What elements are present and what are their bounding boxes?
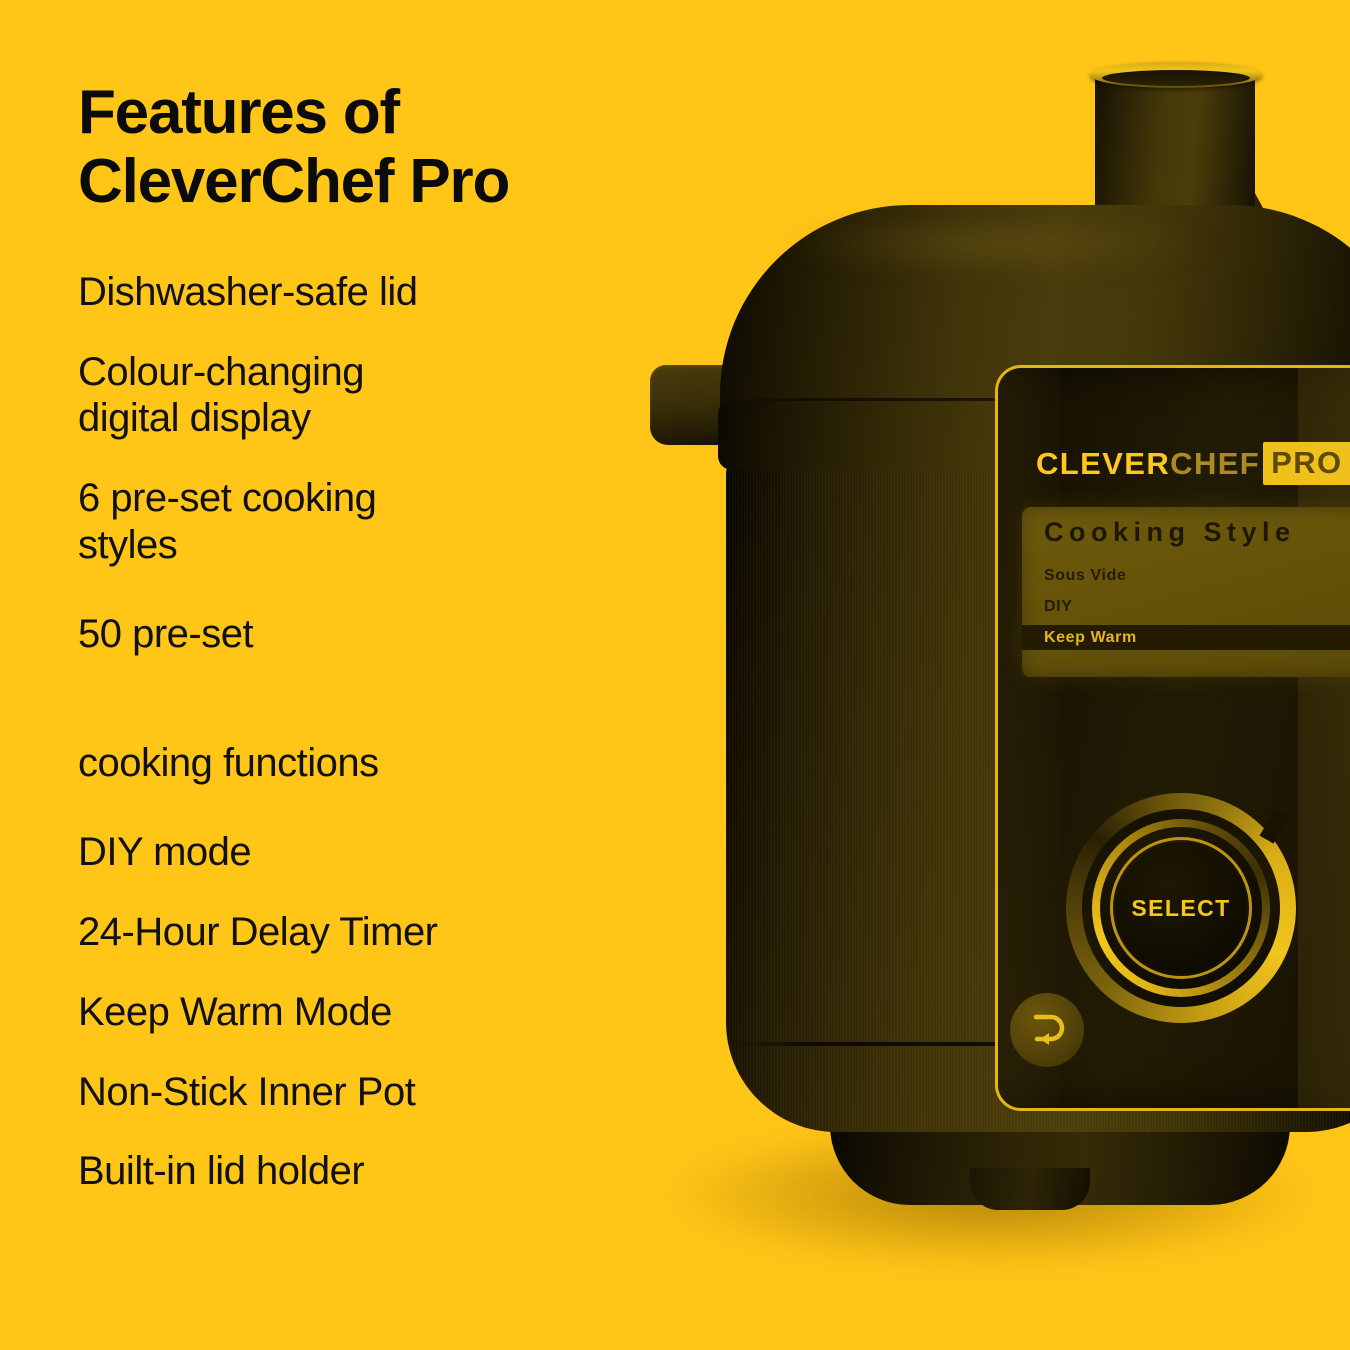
list-item: Built-in lid holder — [78, 1148, 638, 1195]
lcd-menu-item-sous-vide[interactable]: Sous Vide — [1022, 563, 1350, 588]
list-item: DIY mode — [78, 829, 638, 876]
logo-chef-text: CHEF — [1170, 446, 1260, 482]
logo-clever-text: CLEVER — [1036, 446, 1170, 482]
list-item: 24-Hour Delay Timer — [78, 909, 638, 956]
list-item: Keep Warm Mode — [78, 989, 638, 1036]
list-item: Non-Stick Inner Pot — [78, 1069, 638, 1116]
dial-face[interactable]: SELECT — [1116, 843, 1246, 973]
cooker-foot-nub — [970, 1168, 1090, 1210]
list-item: 50 pre-set cooking functions — [78, 602, 638, 796]
lcd-menu-label: Sous Vide — [1044, 567, 1126, 585]
list-item: Colour-changing digital display — [78, 349, 638, 443]
lcd-menu-label: DIY — [1044, 598, 1072, 616]
logo-pro-badge: PRO — [1263, 442, 1350, 485]
back-button[interactable] — [1010, 993, 1084, 1067]
brand-logo: CLEVER CHEF PRO ™ — [1036, 442, 1350, 485]
list-item: 6 pre-set cooking styles — [78, 475, 638, 569]
lcd-menu-label: Keep Warm — [1044, 629, 1137, 647]
lcd-display: Cooking Style Sous Vide DIY Keep Warm — [1022, 507, 1350, 677]
feature-list: Dishwasher-safe lid Colour-changing digi… — [78, 269, 638, 1195]
back-arrow-icon — [1024, 1008, 1070, 1052]
lcd-title: Cooking Style — [1044, 517, 1296, 548]
dial-ring-gap — [1260, 810, 1289, 844]
logo-pro-text: PRO — [1271, 445, 1342, 480]
feature-banner: Features of CleverChef Pro Dishwasher-sa… — [0, 0, 1350, 1350]
lcd-menu-item-diy[interactable]: DIY — [1022, 594, 1350, 619]
control-panel: CLEVER CHEF PRO ™ Cooking Style Sous Vid… — [995, 365, 1350, 1111]
lcd-menu-item-keep-warm[interactable]: Keep Warm — [1022, 625, 1350, 650]
product-image-pressure-cooker: CLEVER CHEF PRO ™ Cooking Style Sous Vid… — [640, 0, 1350, 1350]
steam-valve-opening — [1102, 70, 1250, 86]
select-dial[interactable]: SELECT — [1066, 793, 1296, 1023]
feature-text-column: Features of CleverChef Pro Dishwasher-sa… — [78, 78, 638, 1195]
page-title: Features of CleverChef Pro — [78, 78, 638, 217]
list-item: Dishwasher-safe lid — [78, 269, 638, 316]
lid-highlight — [790, 215, 1210, 273]
dial-select-label: SELECT — [1131, 895, 1230, 922]
